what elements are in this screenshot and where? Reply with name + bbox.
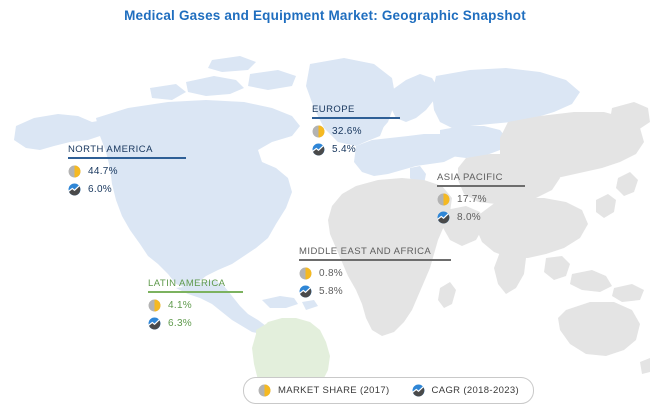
region-name-europe: EUROPE [312,104,400,117]
region-callout-europe: EUROPE 32.6% 5.4% [312,104,400,160]
cagr-value: 5.8% [319,286,343,297]
cagr-value: 5.4% [332,144,356,155]
pie-chart-icon [148,299,161,312]
legend-item-cagr: CAGR (2018-2023) [412,384,519,397]
cagr-value: 6.3% [168,318,192,329]
legend-label-cagr: CAGR (2018-2023) [432,385,519,396]
pie-chart-icon [437,193,450,206]
region-underline [148,291,243,293]
world-map-icon [0,30,650,385]
growth-check-icon [68,183,81,196]
metric-market-share: 44.7% [68,164,186,180]
legend-label-market-share: MARKET SHARE (2017) [278,385,390,396]
region-callout-north-america: NORTH AMERICA 44.7% 6.0% [68,144,186,200]
region-name-latin-america: LATIN AMERICA [148,278,243,291]
region-underline [312,117,400,119]
market-share-value: 32.6% [332,126,362,137]
legend-item-market-share: MARKET SHARE (2017) [258,384,390,397]
legend: MARKET SHARE (2017) CAGR (2018-2023) [243,377,534,404]
region-callout-middle-east-and-africa: MIDDLE EAST AND AFRICA 0.8% 5.8% [299,246,451,302]
region-name-asia-pacific: ASIA PACIFIC [437,172,525,185]
metric-cagr: 5.8% [299,284,451,300]
pie-chart-icon [258,384,271,397]
region-callout-latin-america: LATIN AMERICA 4.1% 6.3% [148,278,243,334]
growth-check-icon [437,211,450,224]
metric-market-share: 17.7% [437,192,525,208]
cagr-value: 6.0% [88,184,112,195]
market-share-value: 44.7% [88,166,118,177]
region-name-north-america: NORTH AMERICA [68,144,186,157]
growth-check-icon [412,384,425,397]
market-share-value: 17.7% [457,194,487,205]
pie-chart-icon [299,267,312,280]
region-callout-asia-pacific: ASIA PACIFIC 17.7% 8.0% [437,172,525,228]
growth-check-icon [299,285,312,298]
metric-cagr: 6.0% [68,182,186,198]
region-underline [299,259,451,261]
page-title: Medical Gases and Equipment Market: Geog… [0,8,650,23]
region-name-middle-east-and-africa: MIDDLE EAST AND AFRICA [299,246,451,259]
pie-chart-icon [312,125,325,138]
cagr-value: 8.0% [457,212,481,223]
metric-market-share: 0.8% [299,266,451,282]
metric-market-share: 4.1% [148,298,243,314]
growth-check-icon [148,317,161,330]
pie-chart-icon [68,165,81,178]
growth-check-icon [312,143,325,156]
metric-cagr: 5.4% [312,142,400,158]
market-share-value: 0.8% [319,268,343,279]
market-share-value: 4.1% [168,300,192,311]
metric-market-share: 32.6% [312,124,400,140]
geographic-snapshot-infographic: Medical Gases and Equipment Market: Geog… [0,0,650,417]
metric-cagr: 8.0% [437,210,525,226]
metric-cagr: 6.3% [148,316,243,332]
region-underline [68,157,186,159]
region-underline [437,185,525,187]
